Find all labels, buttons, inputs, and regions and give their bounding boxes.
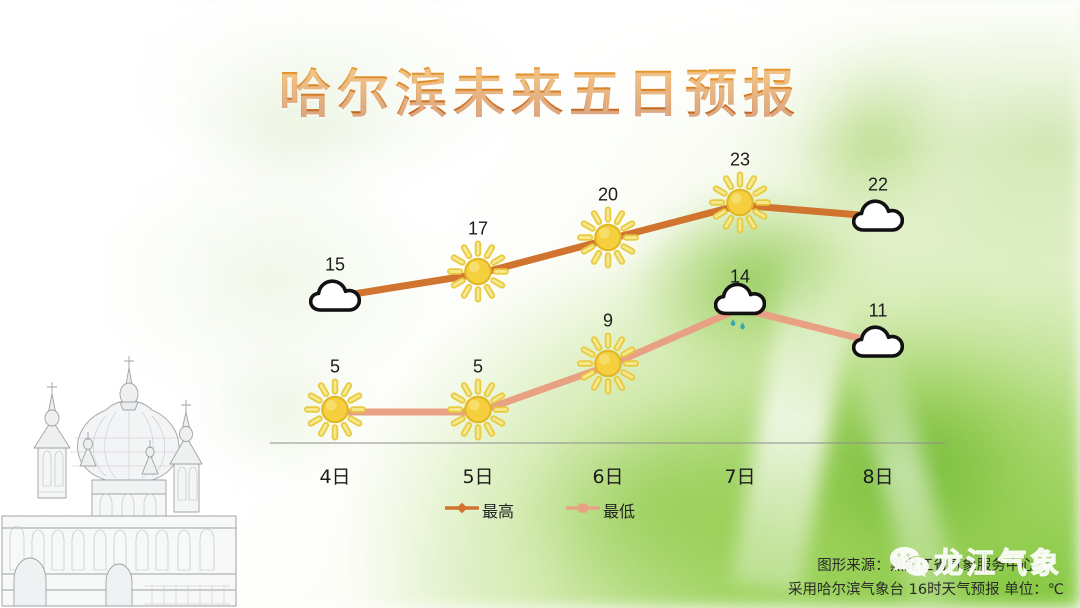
- x-axis-label-day-5: 8日: [862, 462, 893, 489]
- legend-marker-diamond: [445, 501, 479, 520]
- sun-icon: [304, 379, 366, 446]
- footer-source-note: 图形来源：黑龙江省气象服务中心 采用哈尔滨气象台 16时天气预报 单位：℃: [788, 555, 1064, 602]
- x-axis-label-day-4: 7日: [724, 462, 755, 489]
- legend-marker-square: [566, 501, 600, 520]
- cloud-icon: [852, 323, 904, 363]
- high-temperature-value: 17: [468, 219, 488, 240]
- low-temperature-value: 9: [603, 311, 613, 332]
- chart-legend: 最高 最低: [0, 498, 1080, 522]
- high-temperature-value: 20: [598, 184, 618, 205]
- legend-item-low[interactable]: 最低: [566, 498, 635, 522]
- legend-label: 最低: [603, 502, 635, 521]
- sun-icon: [447, 379, 509, 446]
- high-temperature-value: 23: [730, 150, 750, 171]
- low-temperature-value: 14: [730, 266, 750, 287]
- cloud-icon: [309, 277, 361, 317]
- page-title-container: 哈尔滨未来五日预报: [0, 52, 1080, 127]
- legend-item-high[interactable]: 最高: [445, 498, 514, 522]
- sun-icon: [447, 241, 509, 308]
- low-temperature-value: 5: [473, 357, 483, 378]
- high-temperature-value: 15: [325, 255, 345, 276]
- low-temperature-value: 11: [869, 301, 888, 322]
- sun-icon: [709, 172, 771, 239]
- sun-icon: [577, 333, 639, 400]
- high-temperature-value: 22: [868, 174, 888, 195]
- rain-icon: [714, 279, 766, 337]
- x-axis-label-day-3: 6日: [592, 462, 623, 489]
- legend-label: 最高: [482, 502, 514, 521]
- low-temperature-value: 5: [330, 357, 340, 378]
- footer-line-2: 采用哈尔滨气象台 16时天气预报 单位：℃: [788, 579, 1064, 602]
- x-axis-label-day-2: 5日: [462, 462, 493, 489]
- x-axis-label-day-1: 4日: [319, 462, 350, 489]
- page-title: 哈尔滨未来五日预报: [279, 52, 801, 127]
- sun-icon: [577, 206, 639, 273]
- cloud-icon: [852, 196, 904, 236]
- footer-line-1: 图形来源：黑龙江省气象服务中心: [788, 555, 1064, 578]
